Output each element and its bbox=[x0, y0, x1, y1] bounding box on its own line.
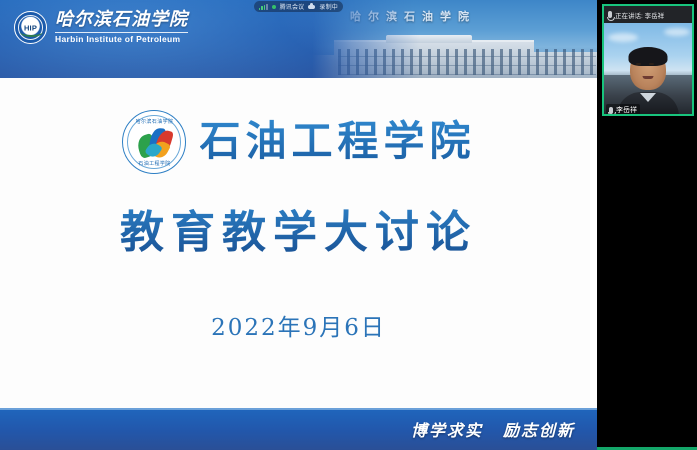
university-names: 哈尔滨石油学院 Harbin Institute of Petroleum bbox=[55, 11, 188, 44]
active-speaker-tile[interactable]: 正在讲话: 李岳祥 李岳祥 bbox=[602, 4, 694, 116]
college-logo-arc-bottom: 石油工程学院 bbox=[123, 160, 186, 167]
speaker-eye-left bbox=[636, 63, 641, 65]
speaker-eye-right bbox=[649, 63, 654, 65]
active-speaker-banner: 正在讲话: 李岳祥 bbox=[604, 6, 692, 23]
participant-name-label: 李岳祥 bbox=[616, 105, 637, 115]
shared-slide[interactable]: 哈尔滨石油学院 HIP 哈尔滨石油学院 Harbin Institute of … bbox=[0, 0, 597, 450]
speaker-hair bbox=[629, 47, 668, 66]
campus-photo-caption: 哈尔滨石油学院 bbox=[350, 8, 476, 24]
participant-name-tag: 李岳祥 bbox=[606, 104, 640, 116]
sky-cloud-left bbox=[608, 33, 638, 42]
university-name-en: Harbin Institute of Petroleum bbox=[55, 32, 188, 44]
motto-left: 博学求实 bbox=[411, 417, 483, 441]
meeting-status-pill[interactable]: 腾讯会议 录制中 bbox=[254, 1, 343, 12]
slide-title-row: 哈尔滨石油学院 石油工程学院 石油工程学院 bbox=[0, 110, 597, 174]
meeting-app-label: 腾讯会议 bbox=[280, 2, 305, 11]
campus-building-photo: 哈尔滨石油学院 bbox=[312, 0, 597, 78]
university-name-cn: 哈尔滨石油学院 bbox=[55, 11, 188, 29]
green-status-dot-icon bbox=[272, 5, 276, 9]
participant-video-panel: 正在讲话: 李岳祥 李岳祥 bbox=[597, 0, 697, 450]
slide-footer-motto: 博学求实 励志创新 bbox=[411, 417, 575, 441]
speaker-mouth bbox=[643, 76, 654, 79]
college-logo-arc-top: 哈尔滨石油学院 bbox=[123, 118, 186, 125]
motto-right: 励志创新 bbox=[503, 417, 575, 441]
meeting-screen-share-view: 哈尔滨石油学院 HIP 哈尔滨石油学院 Harbin Institute of … bbox=[0, 0, 697, 450]
signal-bars-icon bbox=[259, 4, 268, 10]
active-speaker-label: 正在讲话: 李岳祥 bbox=[615, 10, 664, 20]
building-windows bbox=[338, 49, 596, 75]
sky-cloud-right bbox=[664, 28, 690, 36]
recording-status-label: 录制中 bbox=[319, 2, 338, 11]
slide-title-sub: 教育教学大讨论 bbox=[0, 196, 597, 260]
university-brand: HIP 哈尔滨石油学院 Harbin Institute of Petroleu… bbox=[14, 11, 188, 44]
slide-date: 2022年9月6日 bbox=[0, 308, 597, 342]
seal-swoosh bbox=[20, 27, 43, 37]
empty-participant-area bbox=[597, 120, 697, 450]
slide-title-main: 石油工程学院 bbox=[200, 119, 476, 164]
microphone-icon bbox=[608, 11, 612, 18]
cloud-recording-icon bbox=[308, 5, 315, 9]
speaker-video-feed[interactable]: 李岳祥 bbox=[604, 23, 692, 116]
microphone-icon bbox=[609, 107, 613, 114]
slide-footer-band: 博学求实 励志创新 bbox=[0, 408, 597, 450]
college-logo-icon: 哈尔滨石油学院 石油工程学院 bbox=[122, 110, 186, 174]
university-seal-icon: HIP bbox=[14, 11, 47, 44]
slide-body: 哈尔滨石油学院 石油工程学院 石油工程学院 教育教学大讨论 2022年9月6日 bbox=[0, 78, 597, 408]
